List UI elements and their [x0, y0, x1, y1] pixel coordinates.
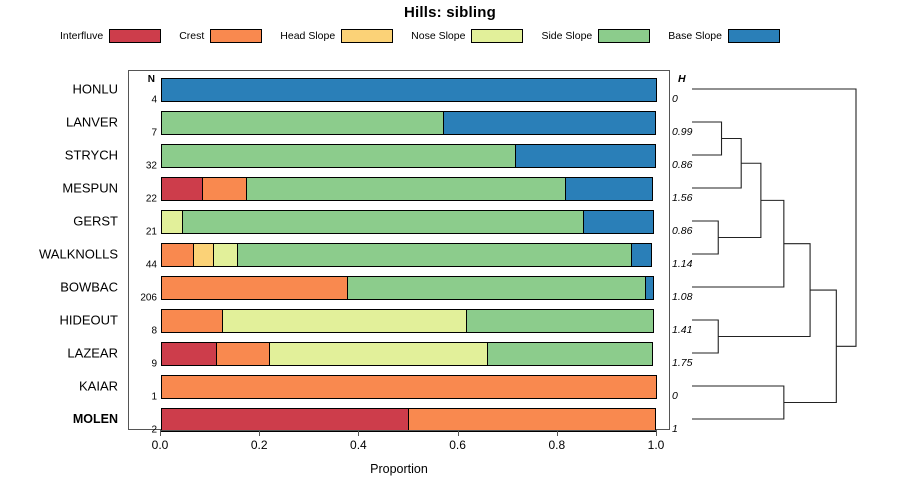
x-axis-tick	[160, 430, 161, 436]
bar-segment[interactable]	[269, 342, 489, 366]
stacked-bar[interactable]	[161, 375, 657, 399]
bar-segment[interactable]	[631, 243, 652, 267]
plot-panel: N 47322221442068912	[128, 70, 670, 430]
legend-item: Head Slope	[280, 27, 411, 45]
x-axis-tick-label: 0.4	[350, 438, 367, 452]
legend: InterfluveCrestHead SlopeNose SlopeSide …	[60, 27, 780, 45]
bar-segment[interactable]	[161, 375, 657, 399]
legend-item-label: Base Slope	[668, 30, 728, 42]
legend-item-label: Head Slope	[280, 30, 341, 42]
bar-segment[interactable]	[193, 243, 215, 267]
x-axis-tick-label: 1.0	[648, 438, 665, 452]
legend-swatch	[341, 29, 393, 43]
dendrogram	[670, 70, 900, 430]
stacked-bar[interactable]	[161, 243, 657, 267]
bar-segment[interactable]	[182, 210, 585, 234]
x-axis-line	[160, 430, 656, 431]
y-axis-label: LANVER	[66, 115, 118, 130]
stacked-bar[interactable]	[161, 177, 657, 201]
bar-segment[interactable]	[161, 177, 203, 201]
y-axis-label: WALKNOLLS	[39, 247, 118, 262]
bar-segment[interactable]	[487, 342, 653, 366]
bar-segment[interactable]	[161, 309, 223, 333]
x-axis-tick-label: 0.6	[449, 438, 466, 452]
y-axis-label: LAZEAR	[67, 346, 118, 361]
bar-segment[interactable]	[408, 408, 656, 432]
bar-segment[interactable]	[515, 144, 656, 168]
dendrogram-svg	[670, 70, 900, 430]
x-axis-tick-label: 0.2	[251, 438, 268, 452]
bar-segment[interactable]	[216, 342, 270, 366]
y-axis-label: MESPUN	[62, 181, 118, 196]
x-axis-tick-label: 0.8	[548, 438, 565, 452]
stacked-bar[interactable]	[161, 276, 657, 300]
bar-segment[interactable]	[246, 177, 566, 201]
bar-segment[interactable]	[466, 309, 654, 333]
bar-segment[interactable]	[222, 309, 467, 333]
legend-item-label: Side Slope	[541, 30, 598, 42]
x-axis-tick	[358, 430, 359, 436]
bar-segment[interactable]	[213, 243, 238, 267]
legend-swatch	[109, 29, 161, 43]
chart-title: Hills: sibling	[0, 4, 900, 21]
x-axis-title: Proportion	[128, 462, 670, 476]
y-axis-label: STRYCH	[65, 148, 118, 163]
stacked-bar[interactable]	[161, 309, 657, 333]
bar-segment[interactable]	[161, 408, 409, 432]
bar-segment[interactable]	[565, 177, 653, 201]
legend-item: Crest	[179, 27, 280, 45]
bar-segment[interactable]	[645, 276, 654, 300]
stacked-bar[interactable]	[161, 408, 657, 432]
bar-segment[interactable]	[161, 144, 516, 168]
stacked-bar[interactable]	[161, 111, 657, 135]
x-axis-tick	[557, 430, 558, 436]
legend-swatch	[210, 29, 262, 43]
bar-segment[interactable]	[583, 210, 654, 234]
stacked-bars	[129, 71, 669, 429]
y-axis-label: BOWBAC	[60, 280, 118, 295]
bar-segment[interactable]	[161, 210, 183, 234]
legend-item: Base Slope	[668, 27, 780, 45]
y-axis-label: HONLU	[72, 82, 118, 97]
bar-segment[interactable]	[237, 243, 632, 267]
legend-swatch	[728, 29, 780, 43]
y-axis-label: HIDEOUT	[60, 313, 119, 328]
y-axis-labels: HONLULANVERSTRYCHMESPUNGERSTWALKNOLLSBOW…	[0, 70, 124, 430]
legend-item-label: Nose Slope	[411, 30, 471, 42]
legend-item-label: Crest	[179, 30, 210, 42]
y-axis-label: KAIAR	[79, 379, 118, 394]
stacked-bar[interactable]	[161, 210, 657, 234]
bar-segment[interactable]	[161, 276, 348, 300]
x-axis-tick	[259, 430, 260, 436]
legend-swatch	[471, 29, 523, 43]
bar-segment[interactable]	[347, 276, 647, 300]
bar-segment[interactable]	[161, 243, 194, 267]
y-axis-label: GERST	[73, 214, 118, 229]
legend-item-label: Interfluve	[60, 30, 109, 42]
y-axis-label: MOLEN	[73, 412, 118, 426]
bar-segment[interactable]	[161, 78, 657, 102]
legend-swatch	[598, 29, 650, 43]
stacked-bar[interactable]	[161, 342, 657, 366]
legend-item: Nose Slope	[411, 27, 541, 45]
chart-root: Hills: sibling InterfluveCrestHead Slope…	[0, 0, 900, 500]
x-axis-tick-label: 0.0	[152, 438, 169, 452]
stacked-bar[interactable]	[161, 78, 657, 102]
x-axis: 0.00.20.40.60.81.0	[128, 430, 670, 431]
legend-item: Side Slope	[541, 27, 668, 45]
stacked-bar[interactable]	[161, 144, 657, 168]
bar-segment[interactable]	[202, 177, 248, 201]
bar-segment[interactable]	[161, 342, 217, 366]
legend-item: Interfluve	[60, 27, 179, 45]
x-axis-tick	[656, 430, 657, 436]
bar-segment[interactable]	[161, 111, 445, 135]
bar-segment[interactable]	[443, 111, 655, 135]
x-axis-tick	[458, 430, 459, 436]
